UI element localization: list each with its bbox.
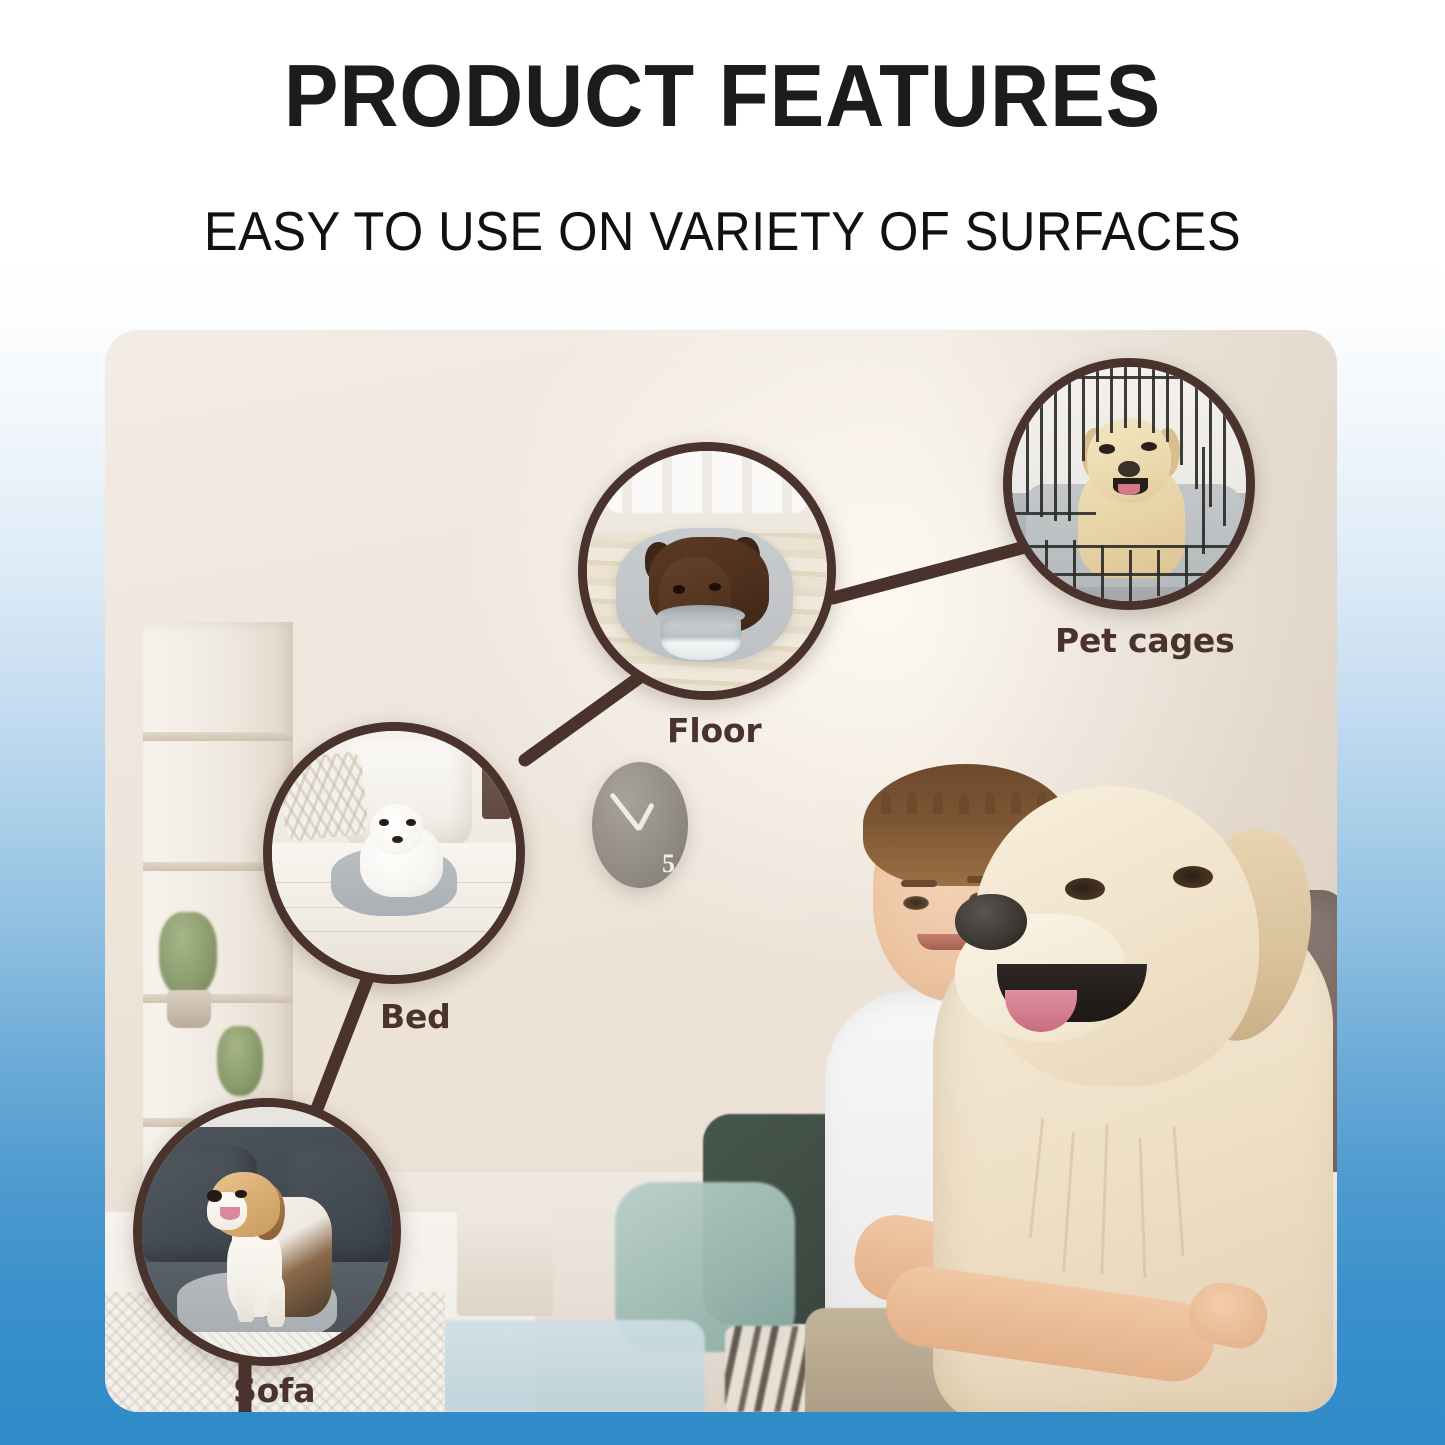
boy-eye-left bbox=[903, 896, 929, 910]
shelf-plant bbox=[159, 912, 217, 998]
infographic-canvas: PRODUCT FEATURES EASY TO USE ON VARIETY … bbox=[0, 0, 1445, 1445]
golden-retriever-nose bbox=[955, 894, 1027, 950]
blue-blanket bbox=[405, 1320, 705, 1412]
patterned-cushion bbox=[278, 751, 369, 842]
clock-number: 5 bbox=[662, 849, 675, 879]
clock-minute-hand bbox=[609, 792, 641, 831]
callout-pet-cages[interactable] bbox=[1003, 358, 1255, 610]
nightstand bbox=[457, 1206, 553, 1316]
page-subtitle: EASY TO USE ON VARIETY OF SURFACES bbox=[58, 200, 1387, 262]
callout-label-sofa: Sofa bbox=[233, 1372, 315, 1410]
golden-retriever-eye-left bbox=[1065, 878, 1105, 900]
golden-retriever-eye-right bbox=[1173, 866, 1213, 888]
callout-label-pet-cages: Pet cages bbox=[1055, 622, 1235, 660]
callout-floor[interactable] bbox=[578, 442, 836, 700]
product-scene-photo: 5 bbox=[105, 330, 1337, 1412]
page-title: PRODUCT FEATURES bbox=[51, 48, 1395, 144]
callout-bed[interactable] bbox=[263, 722, 525, 984]
callout-label-floor: Floor bbox=[667, 712, 761, 750]
wall-clock: 5 bbox=[592, 762, 688, 888]
shelf-pot bbox=[167, 990, 211, 1028]
boy-hugging-dog bbox=[705, 728, 1337, 1412]
callout-label-bed: Bed bbox=[380, 998, 451, 1036]
stainless-food-bowl bbox=[661, 617, 740, 660]
shelf-plant-2 bbox=[217, 1026, 263, 1096]
callout-sofa[interactable] bbox=[133, 1098, 401, 1366]
window-curtain bbox=[606, 451, 808, 513]
